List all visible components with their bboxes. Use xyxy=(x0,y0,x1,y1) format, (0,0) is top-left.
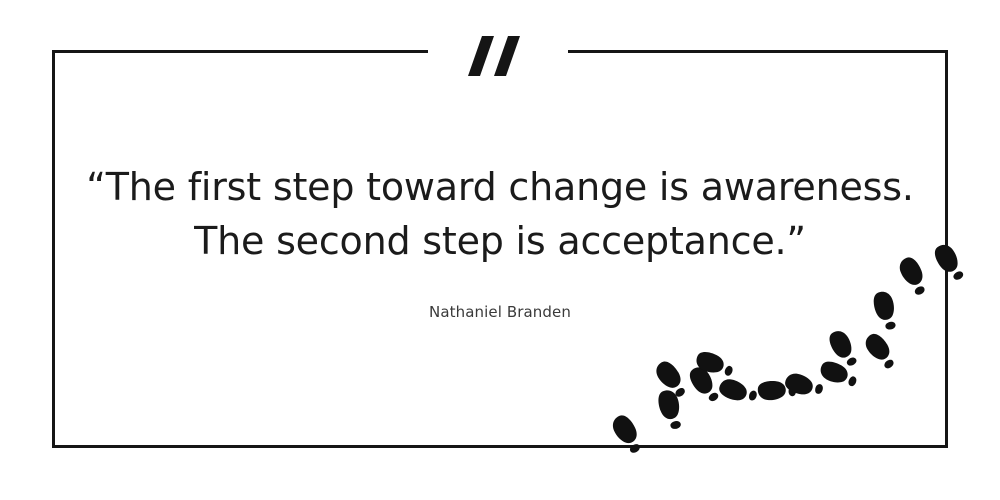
footprint-icon xyxy=(681,361,727,409)
frame-bottom-segment xyxy=(52,445,948,448)
footprint-icon xyxy=(815,352,863,395)
footprint-icon xyxy=(859,327,902,375)
footprint-icon xyxy=(691,343,739,385)
quote-attribution: Nathaniel Branden xyxy=(52,301,948,323)
frame-top-left-segment xyxy=(52,50,428,53)
quote-line-2: The second step is acceptance.” xyxy=(52,214,948,268)
footprint-icon xyxy=(820,325,865,373)
double-quote-icon xyxy=(466,34,532,78)
footprint-icon xyxy=(650,354,694,403)
footprint-icon xyxy=(649,385,690,435)
footprint-icon xyxy=(715,375,760,409)
footprint-icon xyxy=(607,409,649,459)
quote-card: “The first step toward change is awarene… xyxy=(0,0,1000,500)
frame-top-right-segment xyxy=(568,50,948,53)
quote-text: “The first step toward change is awarene… xyxy=(52,160,948,268)
footprint-icon xyxy=(755,375,798,405)
footprint-icon xyxy=(782,369,826,402)
quote-line-1: “The first step toward change is awarene… xyxy=(52,160,948,214)
